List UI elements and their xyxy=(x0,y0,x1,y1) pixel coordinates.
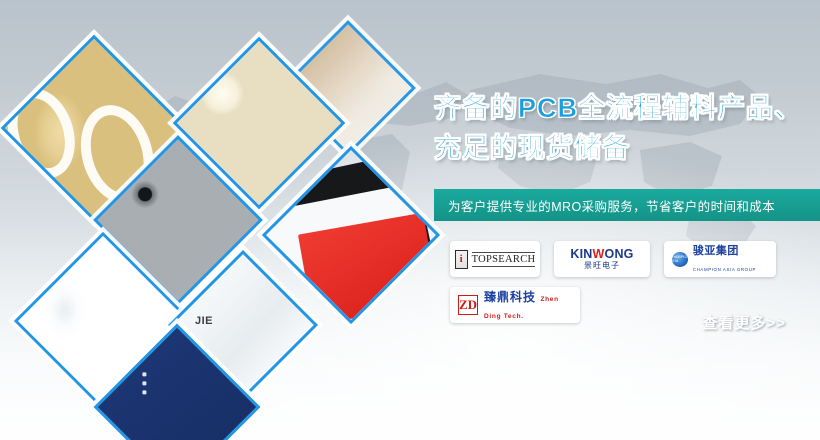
banner-subtitle-bar: 为客户提供专业的MRO采购服务，节省客户的时间和成本 xyxy=(434,189,820,221)
globe-icon-text: CHAMPION ASIA xyxy=(672,255,688,263)
champion-chinese-name: 骏亚集团 xyxy=(693,245,739,257)
banner-subtitle-text: 为客户提供专业的MRO采购服务，节省客户的时间和成本 xyxy=(448,196,775,215)
banner-headline: 齐备的PCB全流程辅料产品、 充足的现货储备 xyxy=(434,88,816,168)
product-collage: JIE xyxy=(0,0,430,440)
kinwong-accent-letter: W xyxy=(593,247,605,261)
kinwong-wordmark: KINWONG xyxy=(570,247,633,261)
topsearch-mark-letter: i xyxy=(460,254,463,265)
logo-champion-asia[interactable]: CHAMPION ASIA 骏亚集团 CHAMPION ASIA GROUP xyxy=(664,241,776,277)
topsearch-wordmark: TOPSEARCH xyxy=(472,252,536,267)
globe-icon: CHAMPION ASIA xyxy=(672,252,688,267)
kinwong-part1: KIN xyxy=(570,247,592,261)
zhending-mark-icon: ZD xyxy=(458,295,478,315)
topsearch-mark-icon: i xyxy=(455,250,468,269)
kinwong-part2: ONG xyxy=(605,247,634,261)
logo-topsearch[interactable]: i TOPSEARCH xyxy=(450,241,540,277)
logo-kinwong[interactable]: KINWONG 景旺电子 xyxy=(554,241,650,277)
film-print-label: JIE xyxy=(195,315,213,327)
logo-row-top: i TOPSEARCH KINWONG 景旺电子 CHAMPION ASIA xyxy=(450,241,810,277)
logo-zhen-ding[interactable]: ZD 臻鼎科技 Zhen Ding Tech. xyxy=(450,287,580,323)
view-more-link[interactable]: 查看更多>> xyxy=(702,312,786,333)
kinwong-chinese-name: 景旺电子 xyxy=(570,262,633,270)
zhending-chinese-name: 臻鼎科技 xyxy=(484,290,536,304)
champion-english-name: CHAMPION ASIA GROUP xyxy=(693,267,756,272)
promo-banner: JIE 齐备的PCB全流程辅料产品、 充足的现货储备 为客户提供专业的MRO采购… xyxy=(0,0,820,440)
